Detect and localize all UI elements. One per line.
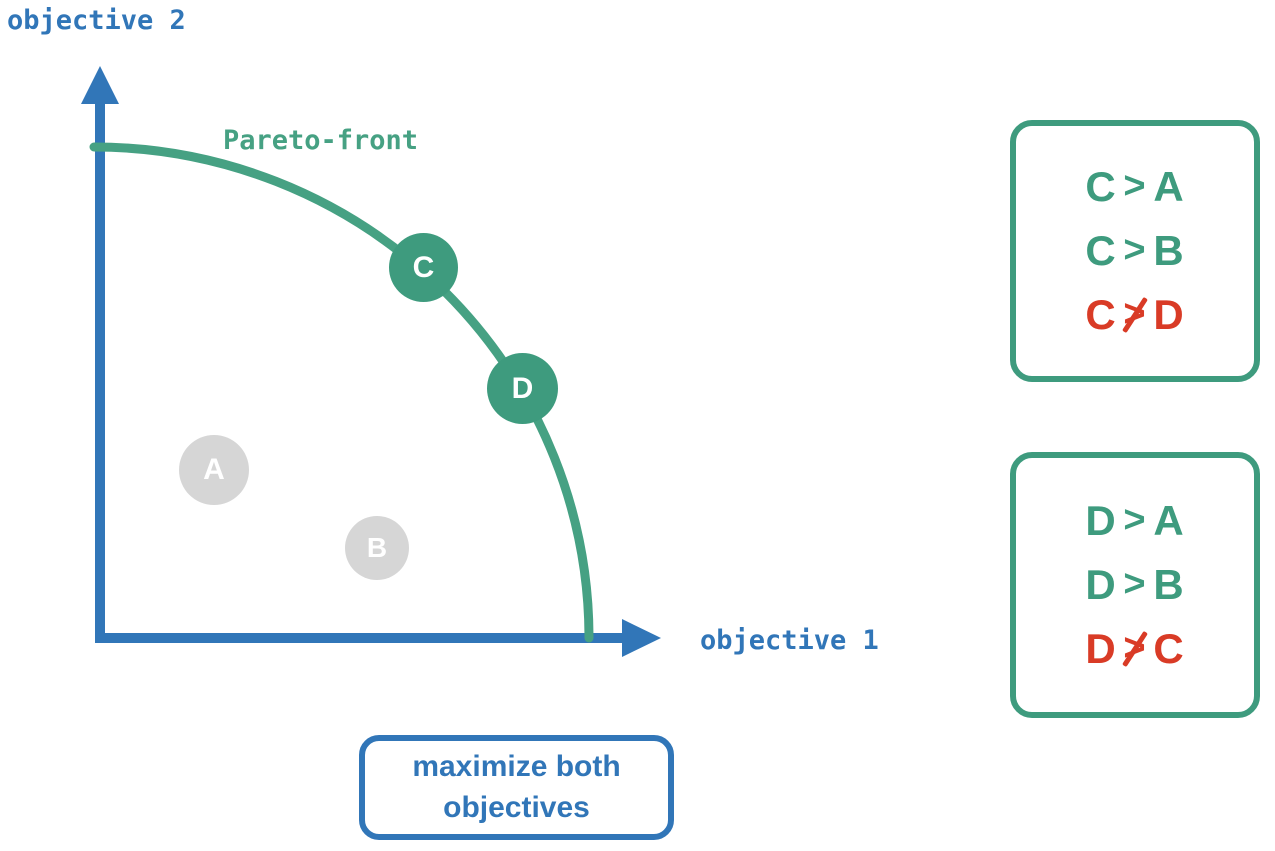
maximize-note-line2: objectives — [443, 791, 590, 824]
relation-left-operand: C — [1084, 283, 1118, 347]
relation-row: D > B — [1084, 553, 1186, 617]
data-point-c-label: C — [413, 253, 435, 283]
data-point-d[interactable]: D — [487, 353, 558, 424]
relation-row: C > D — [1084, 283, 1186, 347]
relation-right-operand: A — [1152, 489, 1186, 553]
data-point-b[interactable]: B — [345, 516, 409, 580]
relation-right-operand: B — [1152, 553, 1186, 617]
data-point-c[interactable]: C — [389, 233, 458, 302]
y-axis-line — [95, 100, 105, 643]
diagram-canvas: objective 2 objective 1 Pareto-front A B… — [0, 0, 1275, 851]
relation-left-operand: D — [1084, 553, 1118, 617]
relation-left-operand: C — [1084, 155, 1118, 219]
relation-box-d: D > A D > B D > C — [1010, 452, 1260, 718]
relation-left-operand: D — [1084, 617, 1118, 681]
relation-left-operand: C — [1084, 219, 1118, 283]
y-axis-arrowhead — [81, 66, 119, 104]
x-axis-arrowhead — [622, 619, 661, 657]
relation-right-operand: A — [1152, 155, 1186, 219]
maximize-note-line1: maximize both — [412, 750, 620, 783]
relation-row: D > A — [1084, 489, 1186, 553]
relation-right-operand: B — [1152, 219, 1186, 283]
data-point-d-label: D — [512, 374, 534, 404]
relation-not-greater-than-icon: > — [1118, 620, 1152, 678]
relation-right-operand: C — [1152, 617, 1186, 681]
relation-row: C > A — [1084, 155, 1186, 219]
relation-right-operand: D — [1152, 283, 1186, 347]
relation-box-c: C > A C > B C > D — [1010, 120, 1260, 382]
relation-row: D > C — [1084, 617, 1186, 681]
data-point-a-label: A — [203, 455, 225, 485]
relation-row: C > B — [1084, 219, 1186, 283]
relation-left-operand: D — [1084, 489, 1118, 553]
data-point-b-label: B — [367, 534, 387, 562]
x-axis-line — [95, 633, 625, 643]
data-point-a[interactable]: A — [179, 435, 249, 505]
relation-operator-icon: > — [1118, 222, 1152, 280]
maximize-note-box: maximize both objectives — [359, 735, 674, 840]
relation-operator-icon: > — [1118, 492, 1152, 550]
relation-not-greater-than-icon: > — [1118, 286, 1152, 344]
maximize-note-text: maximize both objectives — [412, 747, 620, 828]
relation-operator-icon: > — [1118, 158, 1152, 216]
relation-operator-icon: > — [1118, 556, 1152, 614]
